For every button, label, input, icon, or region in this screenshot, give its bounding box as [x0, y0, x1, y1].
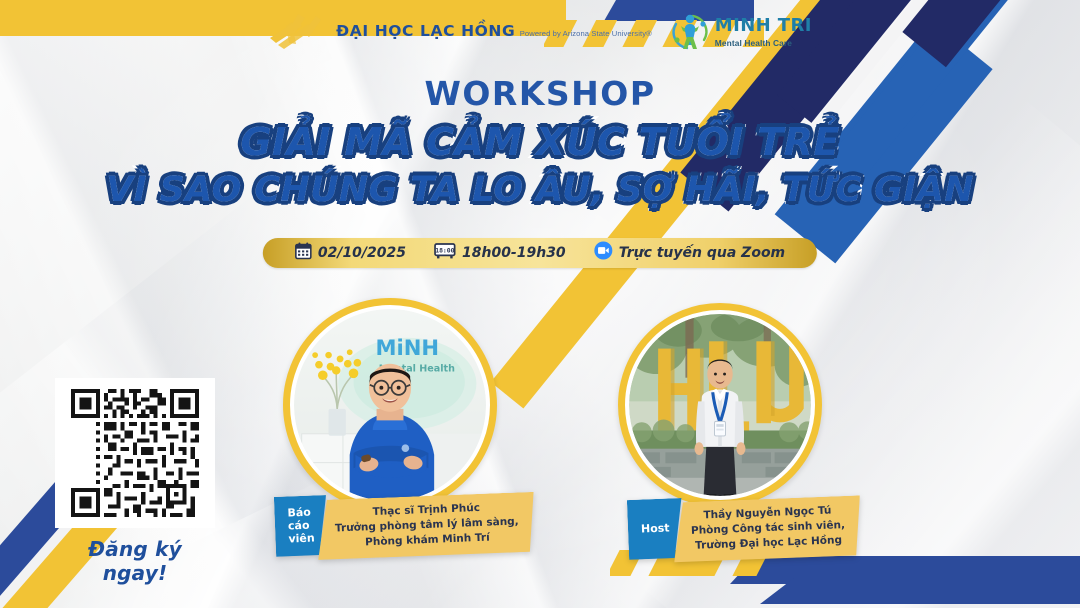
register-now-label: Đăng ký ngay! — [55, 537, 215, 585]
info-item-date: 02/10/2025 — [281, 242, 420, 265]
speaker-card-1: MiNH Mental Health — [283, 298, 497, 512]
host-role-2: Host — [627, 498, 684, 560]
clinic-name: MINH TRI — [715, 17, 812, 35]
speaker-details-1: Thạc sĩ Trịnh Phúc Trưởng phòng tâm lý l… — [316, 492, 536, 560]
title-line-1-wrap: GIẢI MÃ CẢM XÚC TUỔI TRẺ — [0, 120, 1080, 164]
title-line-2: VÌ SAO CHÚNG TA LO ÂU, SỢ HÃI, TỨC GIẬN — [106, 170, 974, 210]
speaker-photo-trinh-phuc: MiNH Mental Health — [294, 309, 486, 501]
kicker-workshop: WORKSHOP — [0, 74, 1080, 113]
speaker-photo-ring-1: MiNH Mental Health — [283, 298, 497, 512]
university-tagline: Powered by Arizona State University® — [520, 29, 652, 38]
qr-code[interactable] — [55, 378, 215, 528]
event-platform: Trực tuyến qua Zoom — [619, 245, 785, 261]
calendar-icon — [295, 242, 312, 265]
logo-row: ĐẠI HỌC LẠC HỒNG Powered by Arizona Stat… — [0, 12, 1080, 52]
clinic-tagline: Mental Health Care — [715, 38, 812, 48]
svg-text:18:00: 18:00 — [435, 246, 454, 254]
svg-text:MiNH: MiNH — [375, 335, 439, 360]
speaker-photo-ring-2 — [618, 303, 822, 507]
host-badge-2: Host Thầy Nguyễn Ngọc Tú Phòng Công tác … — [628, 499, 861, 559]
arrow-star-icon — [268, 12, 330, 52]
title-line-1: GIẢI MÃ CẢM XÚC TUỔI TRẺ — [240, 120, 839, 164]
registration-block[interactable]: Đăng ký ngay! — [55, 378, 215, 585]
host-photo-nguyen-ngoc-tu — [629, 314, 811, 496]
info-item-platform: Trực tuyến qua Zoom — [580, 241, 799, 265]
event-time: 18h00-19h30 — [462, 245, 566, 261]
host-details-2: Thầy Nguyễn Ngọc Tú Phòng Công tác sinh … — [672, 495, 862, 562]
event-date: 02/10/2025 — [318, 245, 406, 261]
clock-icon: 18:00 — [434, 242, 456, 265]
university-name: ĐẠI HỌC LẠC HỒNG — [336, 22, 515, 40]
workshop-poster: ĐẠI HỌC LẠC HỒNG Powered by Arizona Stat… — [0, 0, 1080, 608]
speaker-badge-1: Báo cáo viên Thạc sĩ Trịnh Phúc Trưởng p… — [275, 496, 535, 556]
event-info-bar: 02/10/2025 18:00 18h00-19h30 — [263, 238, 817, 268]
zoom-video-icon — [594, 241, 613, 265]
person-swirl-icon — [670, 12, 710, 52]
logo-lac-hong-text: ĐẠI HỌC LẠC HỒNG Powered by Arizona Stat… — [336, 24, 652, 40]
title-line-2-wrap: VÌ SAO CHÚNG TA LO ÂU, SỢ HÃI, TỨC GIẬN — [0, 170, 1080, 210]
logo-lac-hong-university: ĐẠI HỌC LẠC HỒNG Powered by Arizona Stat… — [268, 12, 652, 52]
logo-minh-tri-text: MINH TRI Mental Health Care — [715, 17, 812, 48]
speaker-card-2: Host Thầy Nguyễn Ngọc Tú Phòng Công tác … — [618, 303, 822, 507]
info-item-time: 18:00 18h00-19h30 — [420, 242, 580, 265]
logo-minh-tri: MINH TRI Mental Health Care — [670, 12, 812, 52]
